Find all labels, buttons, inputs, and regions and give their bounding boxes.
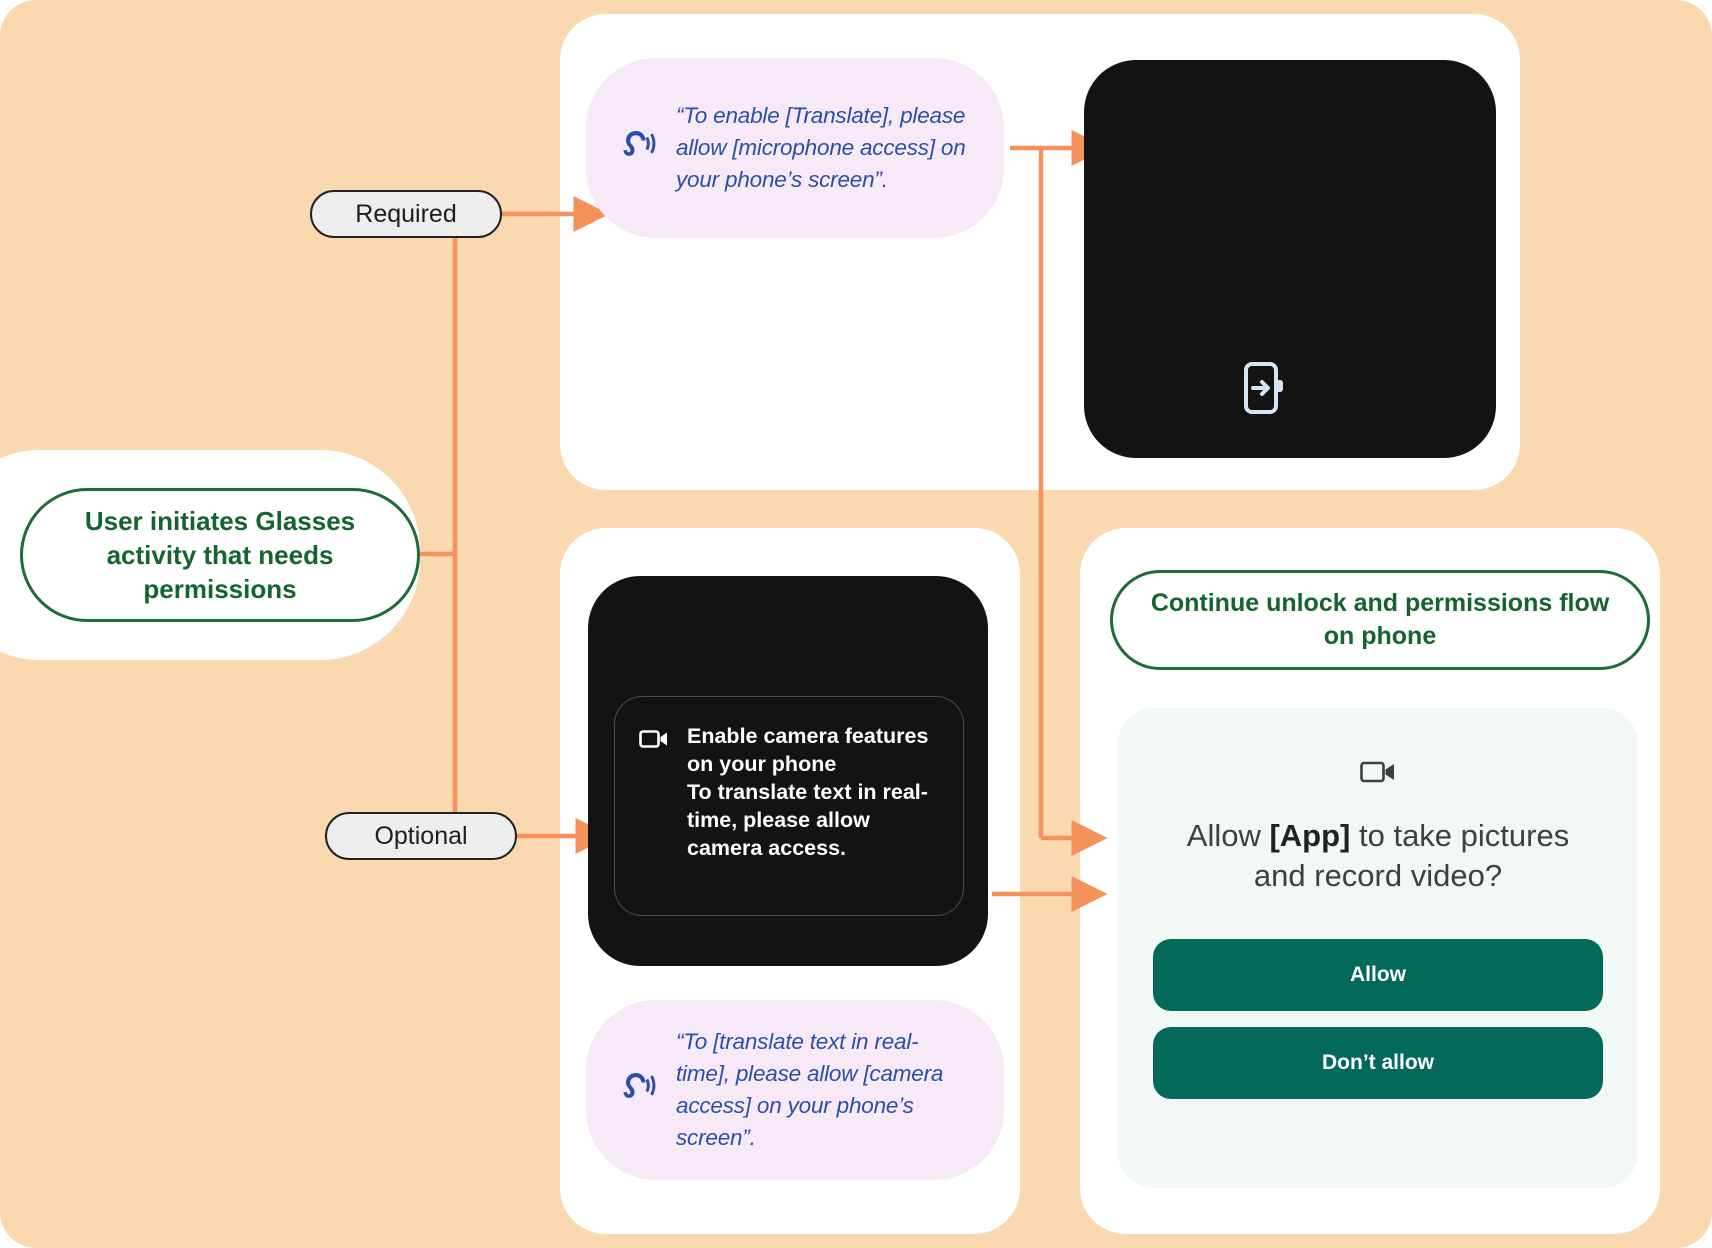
- camera-prompt-bubble: “To [translate text in real-time], pleas…: [586, 1000, 1004, 1180]
- camera-notification-body: To translate text in real-time, please a…: [687, 779, 939, 863]
- branch-pill-required-label: Required: [355, 200, 456, 229]
- microphone-prompt-bubble: “To enable [Translate], please allow [mi…: [586, 58, 1004, 238]
- camera-notification-title: Enable camera features on your phone: [687, 723, 939, 779]
- diagram-canvas: User initiates Glasses activity that nee…: [0, 0, 1712, 1248]
- video-camera-icon: [639, 727, 669, 751]
- continue-on-phone-label: Continue unlock and permissions flow on …: [1139, 587, 1621, 653]
- branch-pill-optional[interactable]: Optional: [325, 812, 517, 860]
- branch-pill-optional-label: Optional: [374, 822, 467, 851]
- permission-question-prefix: Allow: [1187, 818, 1270, 853]
- start-node: User initiates Glasses activity that nee…: [20, 488, 420, 622]
- android-permission-dialog: Allow [App] to take pictures and record …: [1118, 708, 1638, 1188]
- permission-question-app: [App]: [1269, 818, 1350, 853]
- allow-button[interactable]: Allow: [1153, 939, 1603, 1011]
- video-camera-icon: [1360, 758, 1396, 786]
- ear-listening-icon: [616, 127, 656, 169]
- phone-unlock-icon: [1240, 360, 1292, 416]
- camera-notification-card[interactable]: Enable camera features on your phone To …: [614, 696, 964, 916]
- permission-question: Allow [App] to take pictures and record …: [1158, 816, 1598, 897]
- branch-pill-required[interactable]: Required: [310, 190, 502, 238]
- continue-on-phone-node: Continue unlock and permissions flow on …: [1110, 570, 1650, 670]
- dont-allow-button[interactable]: Don’t allow: [1153, 1027, 1603, 1099]
- start-node-label: User initiates Glasses activity that nee…: [49, 504, 391, 607]
- camera-prompt-text: “To [translate text in real-time], pleas…: [676, 1026, 970, 1154]
- ear-listening-icon: [616, 1069, 656, 1111]
- microphone-prompt-text: “To enable [Translate], please allow [mi…: [676, 100, 970, 196]
